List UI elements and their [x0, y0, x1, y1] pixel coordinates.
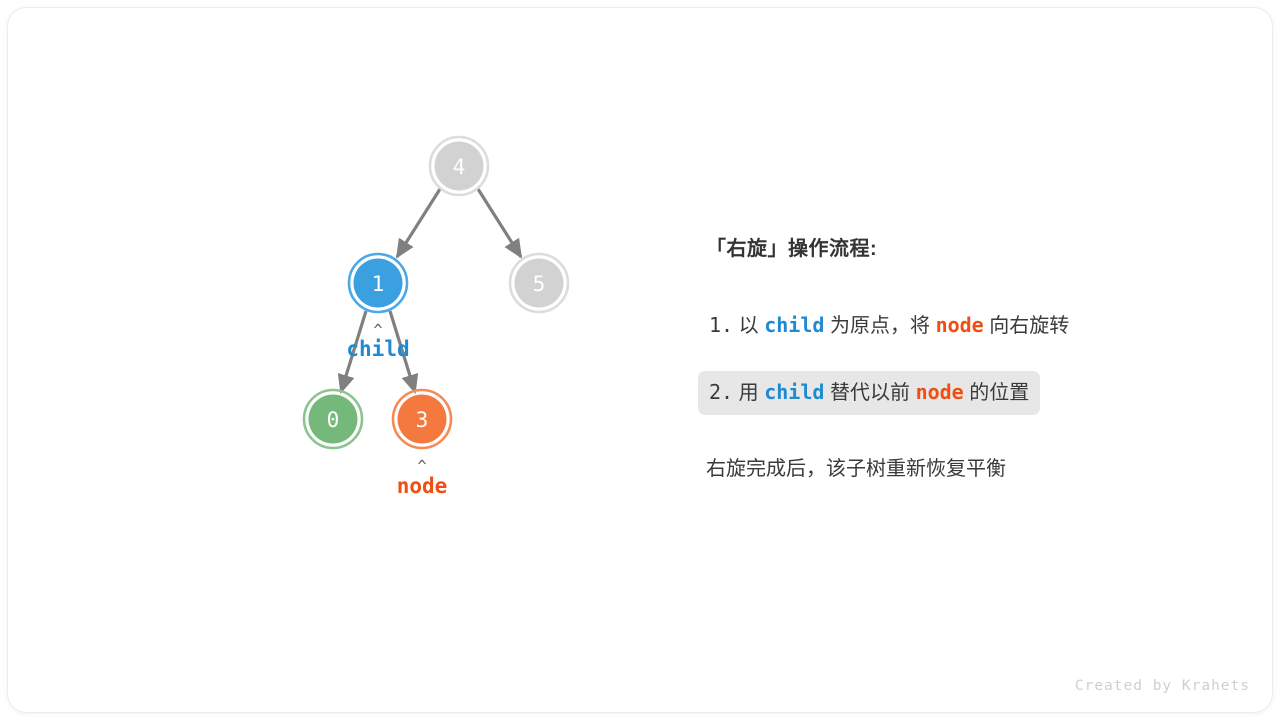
step-text-plain-2: 替代以前: [824, 382, 915, 404]
child-pointer: ^ child: [346, 321, 409, 361]
tree-node-4[interactable]: 4: [430, 137, 488, 195]
node-label: 1: [372, 272, 385, 296]
node-pointer: ^ node: [397, 457, 448, 498]
keyword-node: node: [936, 313, 984, 337]
edge-4-5: [478, 189, 521, 257]
step-text-plain-2: 为原点，将: [824, 315, 935, 337]
panel-title: 「右旋」操作流程:: [706, 232, 877, 261]
tree-node-0[interactable]: 0: [304, 390, 362, 448]
step-text-plain-1: 用: [739, 382, 765, 404]
closing-note: 右旋完成后，该子树重新恢复平衡: [706, 452, 1006, 481]
step-number: 2.: [709, 380, 733, 404]
footer-credit: Created by Krahets: [1075, 678, 1250, 694]
node-label: 5: [533, 272, 546, 296]
keyword-child: child: [764, 380, 824, 404]
avl-tree-diagram: 4 1 5 0: [8, 8, 648, 712]
node-label: 4: [453, 155, 466, 179]
tree-node-3[interactable]: 3: [393, 390, 451, 448]
step-item-1: 1. 以 child 为原点，将 node 向右旋转: [698, 304, 1080, 348]
step-text-plain-3: 向右旋转: [984, 315, 1070, 337]
figure-card: 4 1 5 0: [8, 8, 1272, 712]
caret-up-icon: ^: [417, 457, 426, 475]
step-text-plain-1: 以: [739, 315, 765, 337]
edge-4-1: [397, 189, 440, 257]
keyword-node: node: [916, 380, 964, 404]
step-number: 1.: [709, 313, 733, 337]
description-panel: 「右旋」操作流程: 1. 以 child 为原点，将 node 向右旋转 2. …: [698, 8, 1218, 712]
node-label: 0: [327, 408, 340, 432]
tree-node-1[interactable]: 1: [349, 254, 407, 312]
node-label: 3: [416, 408, 429, 432]
tree-svg: 4 1 5 0: [8, 8, 648, 712]
tree-node-5[interactable]: 5: [510, 254, 568, 312]
node-pointer-label: node: [397, 474, 448, 498]
step-item-2: 2. 用 child 替代以前 node 的位置: [698, 371, 1040, 415]
step-text-plain-3: 的位置: [964, 382, 1030, 404]
keyword-child: child: [764, 313, 824, 337]
child-pointer-label: child: [346, 337, 409, 361]
